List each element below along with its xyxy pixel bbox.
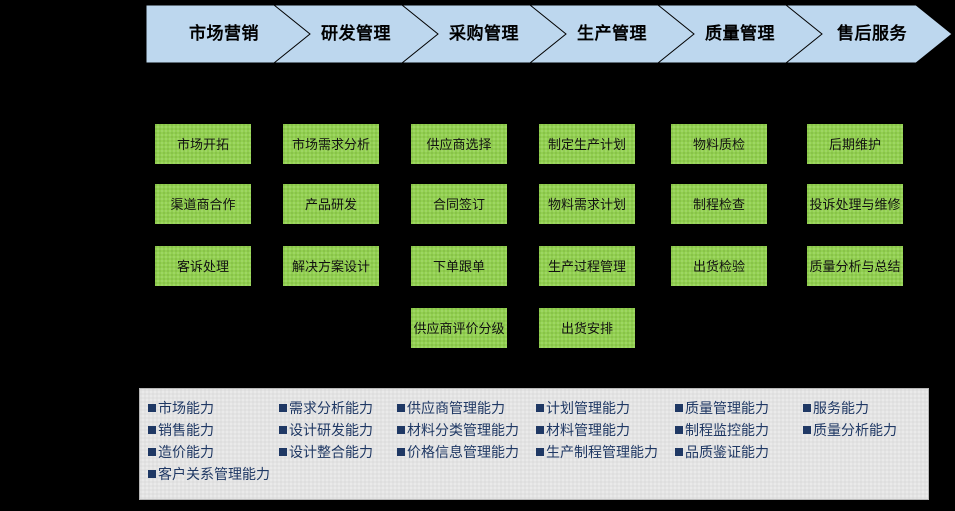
- legend-bullet-icon: [279, 448, 287, 456]
- activity-box-label: 下单跟单: [413, 258, 505, 275]
- activity-box[interactable]: 生产过程管理: [539, 246, 635, 286]
- legend-column: 服务能力质量分析能力: [803, 397, 897, 441]
- legend-item-label: 计划管理能力: [546, 400, 630, 416]
- legend-bullet-icon: [536, 426, 544, 434]
- legend-item-label: 设计研发能力: [289, 422, 373, 438]
- legend-item-label: 服务能力: [813, 400, 869, 416]
- activity-box-label: 出货检验: [673, 258, 765, 275]
- legend-item[interactable]: 供应商管理能力: [397, 397, 519, 419]
- legend-item-label: 材料分类管理能力: [407, 422, 519, 438]
- activity-box[interactable]: 物料需求计划: [539, 184, 635, 224]
- activity-box-label: 渠道商合作: [157, 196, 249, 213]
- legend-item-label: 销售能力: [158, 422, 214, 438]
- activity-box-label: 出货安排: [541, 320, 633, 337]
- legend-item-label: 设计整合能力: [289, 444, 373, 460]
- legend-item[interactable]: 需求分析能力: [279, 397, 373, 419]
- process-stage-3[interactable]: 生产管理: [554, 5, 670, 63]
- legend-item[interactable]: 质量管理能力: [675, 397, 769, 419]
- capability-legend: 市场能力销售能力造价能力客户关系管理能力需求分析能力设计研发能力设计整合能力供应…: [139, 388, 929, 500]
- legend-item[interactable]: 材料分类管理能力: [397, 419, 519, 441]
- legend-item[interactable]: 材料管理能力: [536, 419, 658, 441]
- activity-box-label: 制程检查: [673, 196, 765, 213]
- activity-box[interactable]: 渠道商合作: [155, 184, 251, 224]
- legend-item-label: 客户关系管理能力: [158, 466, 270, 482]
- legend-item-label: 市场能力: [158, 400, 214, 416]
- activity-box-label: 投诉处理与维修: [809, 196, 901, 213]
- legend-item[interactable]: 生产制程管理能力: [536, 441, 658, 463]
- activity-box[interactable]: 下单跟单: [411, 246, 507, 286]
- activity-box-label: 质量分析与总结: [809, 258, 901, 275]
- legend-column: 供应商管理能力材料分类管理能力价格信息管理能力: [397, 397, 519, 463]
- legend-column: 计划管理能力材料管理能力生产制程管理能力: [536, 397, 658, 463]
- activity-box-label: 产品研发: [285, 196, 377, 213]
- legend-item[interactable]: 客户关系管理能力: [148, 463, 270, 485]
- activity-box-label: 制定生产计划: [541, 136, 633, 153]
- legend-bullet-icon: [148, 448, 156, 456]
- legend-bullet-icon: [397, 448, 405, 456]
- activity-box[interactable]: 市场需求分析: [283, 124, 379, 164]
- legend-item[interactable]: 服务能力: [803, 397, 897, 419]
- legend-item[interactable]: 质量分析能力: [803, 419, 897, 441]
- legend-bullet-icon: [536, 404, 544, 412]
- legend-bullet-icon: [675, 404, 683, 412]
- legend-item-label: 质量分析能力: [813, 422, 897, 438]
- legend-item-label: 质量管理能力: [685, 400, 769, 416]
- legend-item-label: 需求分析能力: [289, 400, 373, 416]
- activity-box[interactable]: 解决方案设计: [283, 246, 379, 286]
- activity-box-label: 客诉处理: [157, 258, 249, 275]
- legend-item-label: 材料管理能力: [546, 422, 630, 438]
- legend-bullet-icon: [148, 404, 156, 412]
- activity-box-label: 市场开拓: [157, 136, 249, 153]
- legend-item[interactable]: 销售能力: [148, 419, 270, 441]
- process-stage-1[interactable]: 研发管理: [298, 5, 414, 63]
- activity-box[interactable]: 出货检验: [671, 246, 767, 286]
- activity-box-label: 解决方案设计: [285, 258, 377, 275]
- activity-box-label: 物料需求计划: [541, 196, 633, 213]
- activity-box[interactable]: 制定生产计划: [539, 124, 635, 164]
- legend-item[interactable]: 造价能力: [148, 441, 270, 463]
- legend-item[interactable]: 价格信息管理能力: [397, 441, 519, 463]
- activity-box[interactable]: 客诉处理: [155, 246, 251, 286]
- activity-box[interactable]: 投诉处理与维修: [807, 184, 903, 224]
- legend-item-label: 制程监控能力: [685, 422, 769, 438]
- activity-box-label: 后期维护: [809, 136, 901, 153]
- activity-box[interactable]: 质量分析与总结: [807, 246, 903, 286]
- legend-item[interactable]: 设计整合能力: [279, 441, 373, 463]
- legend-bullet-icon: [397, 404, 405, 412]
- legend-item[interactable]: 品质鉴证能力: [675, 441, 769, 463]
- legend-column: 质量管理能力制程监控能力品质鉴证能力: [675, 397, 769, 463]
- legend-bullet-icon: [148, 470, 156, 478]
- legend-bullet-icon: [675, 426, 683, 434]
- activity-box[interactable]: 供应商评价分级: [411, 308, 507, 348]
- legend-bullet-icon: [536, 448, 544, 456]
- activity-box[interactable]: 市场开拓: [155, 124, 251, 164]
- legend-item-label: 品质鉴证能力: [685, 444, 769, 460]
- legend-item-label: 价格信息管理能力: [407, 444, 519, 460]
- activity-box[interactable]: 供应商选择: [411, 124, 507, 164]
- legend-item-label: 供应商管理能力: [407, 400, 505, 416]
- activity-box-label: 供应商选择: [413, 136, 505, 153]
- activity-box-label: 合同签订: [413, 196, 505, 213]
- activity-box-label: 物料质检: [673, 136, 765, 153]
- process-stage-band: 市场营销 研发管理 采购管理 生产管理 质量管理 售后服务: [146, 5, 952, 63]
- activity-box[interactable]: 合同签订: [411, 184, 507, 224]
- activity-box-label: 供应商评价分级: [413, 320, 505, 337]
- legend-item-label: 造价能力: [158, 444, 214, 460]
- activity-box[interactable]: 制程检查: [671, 184, 767, 224]
- legend-column: 需求分析能力设计研发能力设计整合能力: [279, 397, 373, 463]
- legend-column: 市场能力销售能力造价能力客户关系管理能力: [148, 397, 270, 485]
- legend-bullet-icon: [279, 426, 287, 434]
- legend-item[interactable]: 计划管理能力: [536, 397, 658, 419]
- legend-bullet-icon: [675, 448, 683, 456]
- activity-box[interactable]: 产品研发: [283, 184, 379, 224]
- activity-box[interactable]: 后期维护: [807, 124, 903, 164]
- activity-box-label: 市场需求分析: [285, 136, 377, 153]
- legend-bullet-icon: [397, 426, 405, 434]
- legend-item[interactable]: 市场能力: [148, 397, 270, 419]
- legend-item[interactable]: 制程监控能力: [675, 419, 769, 441]
- process-stage-4[interactable]: 质量管理: [682, 5, 798, 63]
- process-stage-0[interactable]: 市场营销: [164, 5, 284, 63]
- legend-item[interactable]: 设计研发能力: [279, 419, 373, 441]
- legend-bullet-icon: [279, 404, 287, 412]
- legend-bullet-icon: [803, 426, 811, 434]
- process-stage-5[interactable]: 售后服务: [814, 5, 930, 63]
- activity-box-label: 生产过程管理: [541, 258, 633, 275]
- process-stage-2[interactable]: 采购管理: [426, 5, 542, 63]
- activity-box[interactable]: 物料质检: [671, 124, 767, 164]
- legend-bullet-icon: [148, 426, 156, 434]
- legend-bullet-icon: [803, 404, 811, 412]
- legend-item-label: 生产制程管理能力: [546, 444, 658, 460]
- activity-box[interactable]: 出货安排: [539, 308, 635, 348]
